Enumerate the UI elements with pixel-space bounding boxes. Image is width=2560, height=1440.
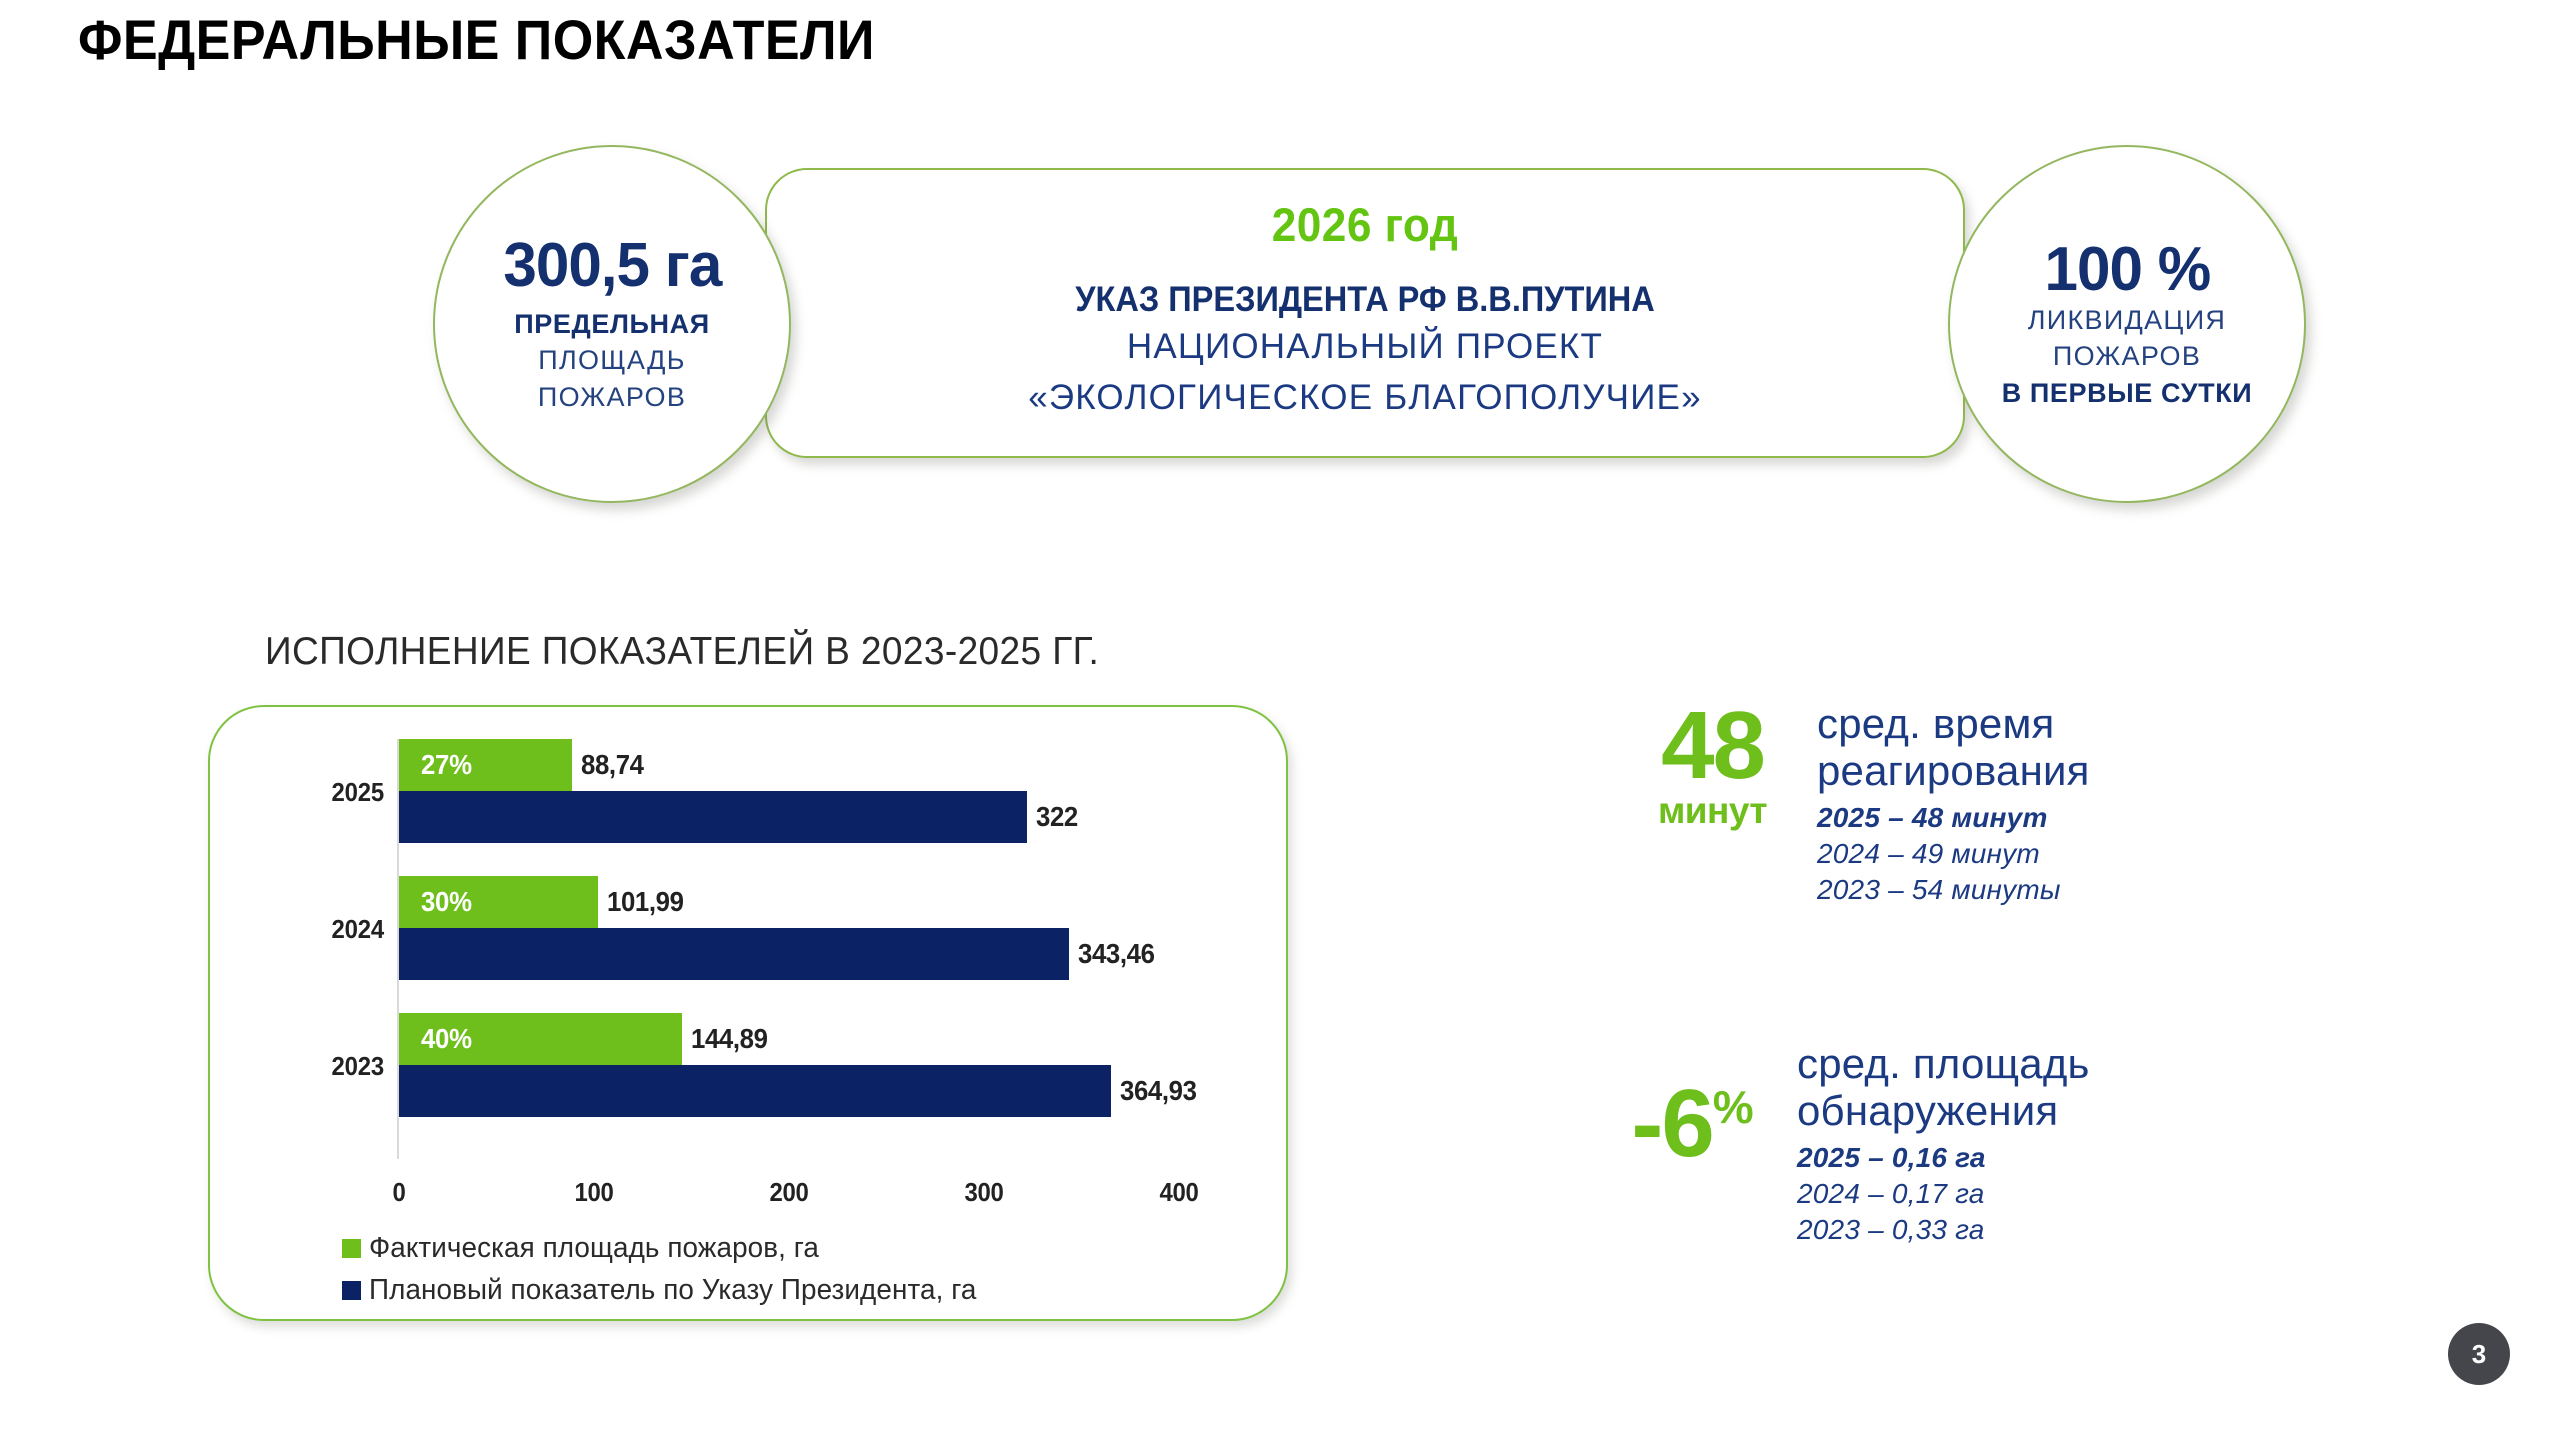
x-axis-tick-label: 200 — [769, 1177, 808, 1208]
decree-banner: 2026 год УКАЗ ПРЕЗИДЕНТА РФ В.В.ПУТИНА Н… — [765, 168, 1965, 458]
kpi-circle-first-day-liquidation: 100 % ЛИКВИДАЦИЯ ПОЖАРОВ В ПЕРВЫЕ СУТКИ — [1948, 145, 2306, 503]
bar-actual-area: 27%88,74 — [399, 739, 572, 791]
x-axis-tick-label: 100 — [574, 1177, 613, 1208]
banner-project-name: «ЭКОЛОГИЧЕСКОЕ БЛАГОПОЛУЧИЕ» — [767, 373, 1963, 424]
stat-detail-lines: 2025 – 48 минут2024 – 49 минут2023 – 54 … — [1817, 800, 2090, 907]
performance-chart-card: 202527%88,74322202430%101,99343,46202340… — [208, 705, 1288, 1321]
stat-title-line: сред. площадь — [1797, 1040, 2090, 1087]
bar-value-label: 88,74 — [581, 739, 644, 791]
bar-value-label: 364,93 — [1120, 1065, 1197, 1117]
stat-block: 48минутсред. времяреагирования2025 – 48 … — [1620, 700, 2090, 908]
x-axis-tick-label: 300 — [964, 1177, 1003, 1208]
legend-item[interactable]: Плановый показатель по Указу Президента,… — [342, 1274, 1002, 1307]
legend-label: Фактическая площадь пожаров, га — [369, 1232, 819, 1265]
kpi-circle-max-fire-area: 300,5 га ПРЕДЕЛЬНАЯ ПЛОЩАДЬ ПОЖАРОВ — [433, 145, 791, 503]
stat-title-line: сред. время — [1817, 700, 2090, 747]
kpi-right-label-bold: В ПЕРВЫЕ СУТКИ — [2002, 375, 2253, 411]
kpi-right-value: 100 % — [2044, 237, 2210, 302]
stat-detail-line: 2024 – 0,17 га — [1797, 1176, 2090, 1212]
stat-detail-line: 2025 – 48 минут — [1817, 800, 2090, 836]
stat-title-line: реагирования — [1817, 747, 2090, 794]
kpi-right-label-line2: ПОЖАРОВ — [2053, 338, 2201, 374]
bar-value-label: 101,99 — [607, 876, 684, 928]
bar-actual-area: 30%101,99 — [399, 876, 598, 928]
stat-text-group: сред. времяреагирования2025 – 48 минут20… — [1805, 700, 2090, 908]
chart-heading: ИСПОЛНЕНИЕ ПОКАЗАТЕЛЕЙ В 2023-2025 ГГ. — [265, 630, 1099, 674]
bar-category-label: 2025 — [263, 777, 384, 808]
stat-unit: минут — [1620, 791, 1805, 832]
stat-detail-lines: 2025 – 0,16 га2024 – 0,17 га2023 – 0,33 … — [1797, 1140, 2090, 1247]
legend-swatch-icon — [342, 1239, 361, 1258]
stat-detail-line: 2025 – 0,16 га — [1797, 1140, 2090, 1176]
chart-x-axis: 0100200300400 — [252, 1177, 1252, 1217]
bar-category-label: 2023 — [263, 1051, 384, 1082]
kpi-left-value: 300,5 га — [503, 233, 721, 298]
legend-item[interactable]: Фактическая площадь пожаров, га — [342, 1232, 1002, 1265]
bar-value-label: 322 — [1036, 791, 1078, 843]
bar-group: 202527%88,74322 — [252, 739, 1252, 859]
stat-big-value: 48минут — [1620, 700, 1805, 832]
bar-percent-label: 27% — [421, 739, 472, 791]
stat-detail-line: 2023 – 0,33 га — [1797, 1212, 2090, 1248]
chart-legend: Фактическая площадь пожаров, гаПлановый … — [342, 1232, 1002, 1316]
stat-text-group: сред. площадьобнаружения2025 – 0,16 га20… — [1785, 1040, 2090, 1248]
page-number-badge: 3 — [2448, 1323, 2510, 1385]
stat-block: -6%сред. площадьобнаружения2025 – 0,16 г… — [1600, 1040, 2090, 1248]
bar-group: 202340%144,89364,93 — [252, 1013, 1252, 1133]
stat-detail-line: 2023 – 54 минуты — [1817, 872, 2090, 908]
legend-label: Плановый показатель по Указу Президента,… — [369, 1274, 976, 1307]
banner-project-line: НАЦИОНАЛЬНЫЙ ПРОЕКТ — [767, 322, 1963, 373]
kpi-left-label-line1: ПЛОЩАДЬ — [538, 342, 685, 378]
kpi-right-label-line1: ЛИКВИДАЦИЯ — [2028, 302, 2226, 338]
banner-decree-line: УКАЗ ПРЕЗИДЕНТА РФ В.В.ПУТИНА — [809, 277, 1921, 323]
bar-planned-area: 364,93 — [399, 1065, 1111, 1117]
stat-title-line: обнаружения — [1797, 1087, 2090, 1134]
bar-value-label: 343,46 — [1078, 928, 1155, 980]
bar-percent-label: 30% — [421, 876, 472, 928]
stat-big-value: -6% — [1600, 1040, 1785, 1169]
x-axis-tick-label: 400 — [1159, 1177, 1198, 1208]
chart-plot-area: 202527%88,74322202430%101,99343,46202340… — [252, 731, 1252, 1163]
stat-superscript: % — [1713, 1081, 1754, 1133]
stat-number: -6% — [1600, 1078, 1785, 1169]
legend-swatch-icon — [342, 1281, 361, 1300]
bar-value-label: 144,89 — [691, 1013, 768, 1065]
top-kpi-banner-block: 2026 год УКАЗ ПРЕЗИДЕНТА РФ В.В.ПУТИНА Н… — [0, 0, 2560, 520]
bar-percent-label: 40% — [421, 1013, 472, 1065]
bar-planned-area: 343,46 — [399, 928, 1069, 980]
bar-group: 202430%101,99343,46 — [252, 876, 1252, 996]
x-axis-tick-label: 0 — [392, 1177, 405, 1208]
banner-year: 2026 год — [803, 196, 1927, 255]
bar-planned-area: 322 — [399, 791, 1027, 843]
stat-detail-line: 2024 – 49 минут — [1817, 836, 2090, 872]
bar-category-label: 2024 — [263, 914, 384, 945]
bar-actual-area: 40%144,89 — [399, 1013, 682, 1065]
kpi-left-label-line2: ПОЖАРОВ — [538, 379, 686, 415]
stat-number: 48 — [1620, 700, 1805, 791]
kpi-left-label-bold: ПРЕДЕЛЬНАЯ — [514, 306, 709, 342]
